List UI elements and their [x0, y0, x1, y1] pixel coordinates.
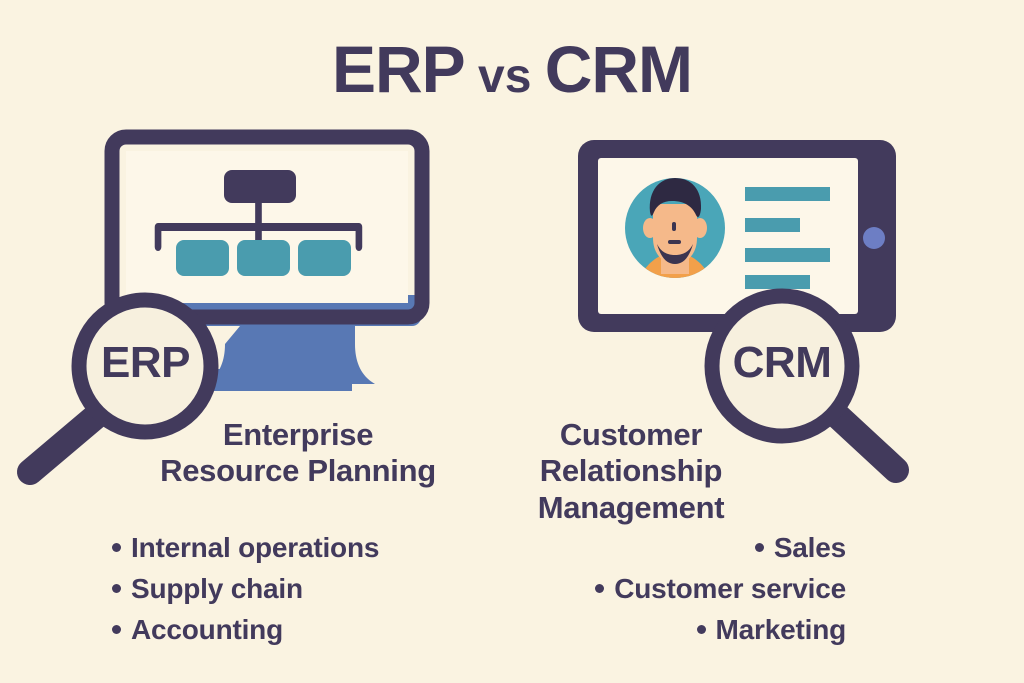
bullet-dot-icon [112, 625, 121, 634]
crm-magnifier-handle [829, 408, 896, 470]
avatar-mouth [668, 240, 681, 244]
crm-bullet-label: Marketing [716, 614, 846, 645]
bullet-dot-icon [697, 625, 706, 634]
list-item: Customer service [500, 568, 846, 609]
bullet-dot-icon [595, 584, 604, 593]
bullet-dot-icon [112, 584, 121, 593]
contact-detail-bars [745, 187, 830, 289]
erp-bullet-list: Internal operations Supply chain Account… [112, 527, 512, 650]
org-chart-root-node [224, 170, 296, 203]
avatar-ear-right [693, 218, 707, 238]
erp-bullet-label: Internal operations [131, 532, 379, 563]
detail-bar-4 [745, 275, 810, 289]
title-trail: CRM [545, 32, 692, 106]
avatar-face [653, 204, 697, 264]
list-item: Internal operations [112, 527, 512, 568]
tablet-body [578, 140, 896, 332]
tablet-home-button [863, 227, 885, 249]
avatar-hair [650, 178, 701, 217]
monitor-base [200, 369, 352, 391]
crm-heading-line-1: Customer [506, 417, 756, 453]
erp-heading: Enterprise Resource Planning [146, 417, 450, 490]
avatar-neck [661, 244, 689, 274]
crm-magnifier-label: CRM [708, 338, 856, 388]
bullet-dot-icon [755, 543, 764, 552]
title-lead: ERP [332, 32, 465, 106]
avatar-ear-left [643, 218, 657, 238]
title-connector: vs [465, 50, 545, 103]
erp-bullet-label: Accounting [131, 614, 283, 645]
erp-heading-line-1: Enterprise [146, 417, 450, 453]
avatar-beard [657, 244, 693, 264]
monitor-bezel [112, 137, 422, 317]
monitor-chin-bar [174, 302, 421, 326]
crm-bullet-label: Customer service [614, 573, 846, 604]
infographic-canvas: ERP vs CRM [0, 0, 1024, 683]
list-item: Marketing [500, 609, 846, 650]
detail-bar-1 [745, 187, 830, 201]
detail-bar-3 [745, 248, 830, 262]
crm-bullet-label: Sales [774, 532, 846, 563]
monitor-chin [174, 295, 421, 315]
org-chart [158, 170, 359, 276]
erp-heading-line-2: Resource Planning [146, 453, 450, 489]
crm-bullet-list: Sales Customer service Marketing [500, 527, 846, 650]
erp-magnifier-handle [30, 412, 101, 472]
monitor-stand [205, 326, 375, 384]
crm-heading: Customer Relationship Management [506, 417, 756, 526]
crm-heading-line-3: Management [506, 490, 756, 526]
erp-bullet-label: Supply chain [131, 573, 303, 604]
monitor-base-notch [320, 369, 352, 391]
org-chart-child-node-1 [176, 240, 229, 276]
avatar-nose [672, 222, 676, 231]
crm-tablet [578, 140, 896, 332]
tablet-screen [598, 158, 858, 314]
detail-bar-2 [745, 218, 800, 232]
erp-magnifier-label: ERP [78, 338, 213, 388]
org-chart-connectors [158, 203, 359, 247]
org-chart-child-node-3 [298, 240, 351, 276]
org-chart-child-node-2 [237, 240, 290, 276]
crm-heading-line-2: Relationship [506, 453, 756, 489]
contact-avatar [625, 178, 725, 306]
bullet-dot-icon [112, 543, 121, 552]
list-item: Accounting [112, 609, 512, 650]
monitor-screen [126, 151, 408, 303]
list-item: Supply chain [112, 568, 512, 609]
list-item: Sales [500, 527, 846, 568]
avatar-background [625, 178, 725, 278]
avatar-shoulders [637, 252, 713, 306]
page-title: ERP vs CRM [0, 36, 1024, 102]
